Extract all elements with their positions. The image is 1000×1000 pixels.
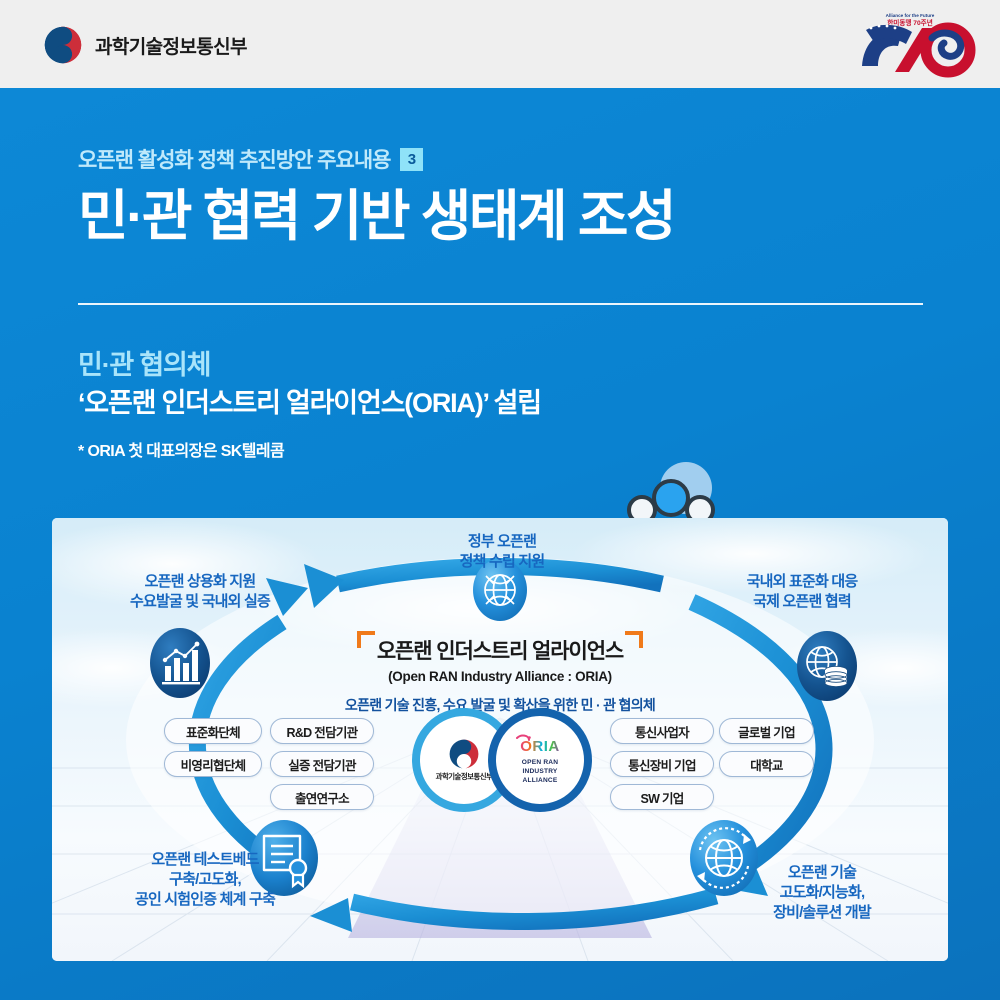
- surround-label-top: 정부 오픈랜 정책 수립 지원: [422, 532, 582, 572]
- member-tag: 통신사업자: [610, 718, 714, 744]
- subtitle-block: 민·관 협의체 ‘오픈랜 인더스트리 얼라이언스(ORIA)’ 설립 * ORI…: [78, 346, 541, 461]
- ministry-name-label: 과학기술정보통신부: [95, 32, 247, 59]
- section-number-badge: 3: [400, 148, 423, 171]
- taegeuk-icon: [44, 26, 82, 64]
- oria-logo-subtitle: OPEN RANINDUSTRYALLIANCE: [522, 759, 558, 785]
- member-tag: R&D 전담기관: [270, 718, 374, 744]
- eyebrow: 오픈랜 활성화 정책 추진방안 주요내용 3: [78, 144, 423, 174]
- korea-us-alliance-70-icon: Alliance for the Future 한미동맹 70주년: [840, 4, 980, 84]
- hero-section: 오픈랜 활성화 정책 추진방안 주요내용 3 민·관 협력 기반 생태계 조성 …: [0, 88, 1000, 1000]
- member-tag: 표준화단체: [164, 718, 262, 744]
- surround-label-right: 국내외 표준화 대응 국제 오픈랜 협력: [692, 572, 912, 612]
- surround-label-bottom-right: 오픈랜 기술 고도화/지능화, 장비/솔루션 개발: [712, 863, 932, 923]
- member-tag-column-right-1: 통신사업자 통신장비 기업 SW 기업: [610, 718, 714, 810]
- surround-label-left: 오픈랜 상용화 지원 수요발굴 및 국내외 실증: [90, 572, 310, 612]
- member-tag: 통신장비 기업: [610, 751, 714, 777]
- member-tag: 출연연구소: [270, 784, 374, 810]
- svg-text:Alliance for the Future: Alliance for the Future: [886, 13, 935, 18]
- member-tag: SW 기업: [610, 784, 714, 810]
- center-title-block: 오픈랜 인더스트리 얼라이언스 (Open RAN Industry Allia…: [320, 635, 680, 715]
- center-title-kr: 오픈랜 인더스트리 얼라이언스: [359, 635, 641, 665]
- subtitle-note: * ORIA 첫 대표의장은 SK텔레콤: [78, 437, 541, 461]
- page-title: 민·관 협력 기반 생태계 조성: [78, 186, 674, 247]
- member-tag-column-left-1: 표준화단체 비영리협단체: [164, 718, 262, 777]
- oria-logo-circle: ORIA OPEN RANINDUSTRYALLIANCE: [488, 708, 592, 812]
- eyebrow-label: 오픈랜 활성화 정책 추진방안 주요내용: [78, 144, 390, 174]
- member-tag: 대학교: [719, 751, 814, 777]
- infographic-page: 과학기술정보통신부 Alliance for the Future 한미동맹 7…: [0, 0, 1000, 1000]
- member-tag: 실증 전담기관: [270, 751, 374, 777]
- surround-label-bottom-left: 오픈랜 테스트베드 구축/고도화, 공인 시험인증 체계 구축: [80, 850, 330, 910]
- partner-logo-pair: 과학기술정보통신부: [412, 708, 592, 818]
- member-tag-column-left-2: R&D 전담기관 실증 전담기관 출연연구소: [270, 718, 374, 810]
- ecosystem-diagram-panel: 정부 오픈랜 정책 수립 지원 오픈랜 상용화 지원 수요발굴 및 국내외 실증…: [52, 518, 948, 961]
- svg-text:ORIA: ORIA: [520, 738, 560, 755]
- globe-database-icon-badge: [797, 631, 857, 701]
- center-title-en: (Open RAN Industry Alliance : ORIA): [320, 669, 680, 684]
- oria-logo-icon: ORIA: [512, 734, 568, 756]
- member-tag-column-right-2: 글로벌 기업 대학교: [719, 718, 814, 777]
- ministry-logo-caption: 과학기술정보통신부: [436, 771, 493, 782]
- bar-chart-icon-badge: [150, 628, 210, 698]
- government-header: 과학기술정보통신부 Alliance for the Future 한미동맹 7…: [0, 0, 1000, 88]
- ministry-brand: 과학기술정보통신부: [44, 26, 247, 64]
- member-tag: 비영리협단체: [164, 751, 262, 777]
- member-tag: 글로벌 기업: [719, 718, 814, 744]
- taegeuk-icon: [449, 739, 479, 769]
- divider: [78, 303, 923, 305]
- subtitle-line-2: ‘오픈랜 인더스트리 얼라이언스(ORIA)’ 설립: [78, 384, 541, 422]
- subtitle-line-1: 민·관 협의체: [78, 346, 541, 384]
